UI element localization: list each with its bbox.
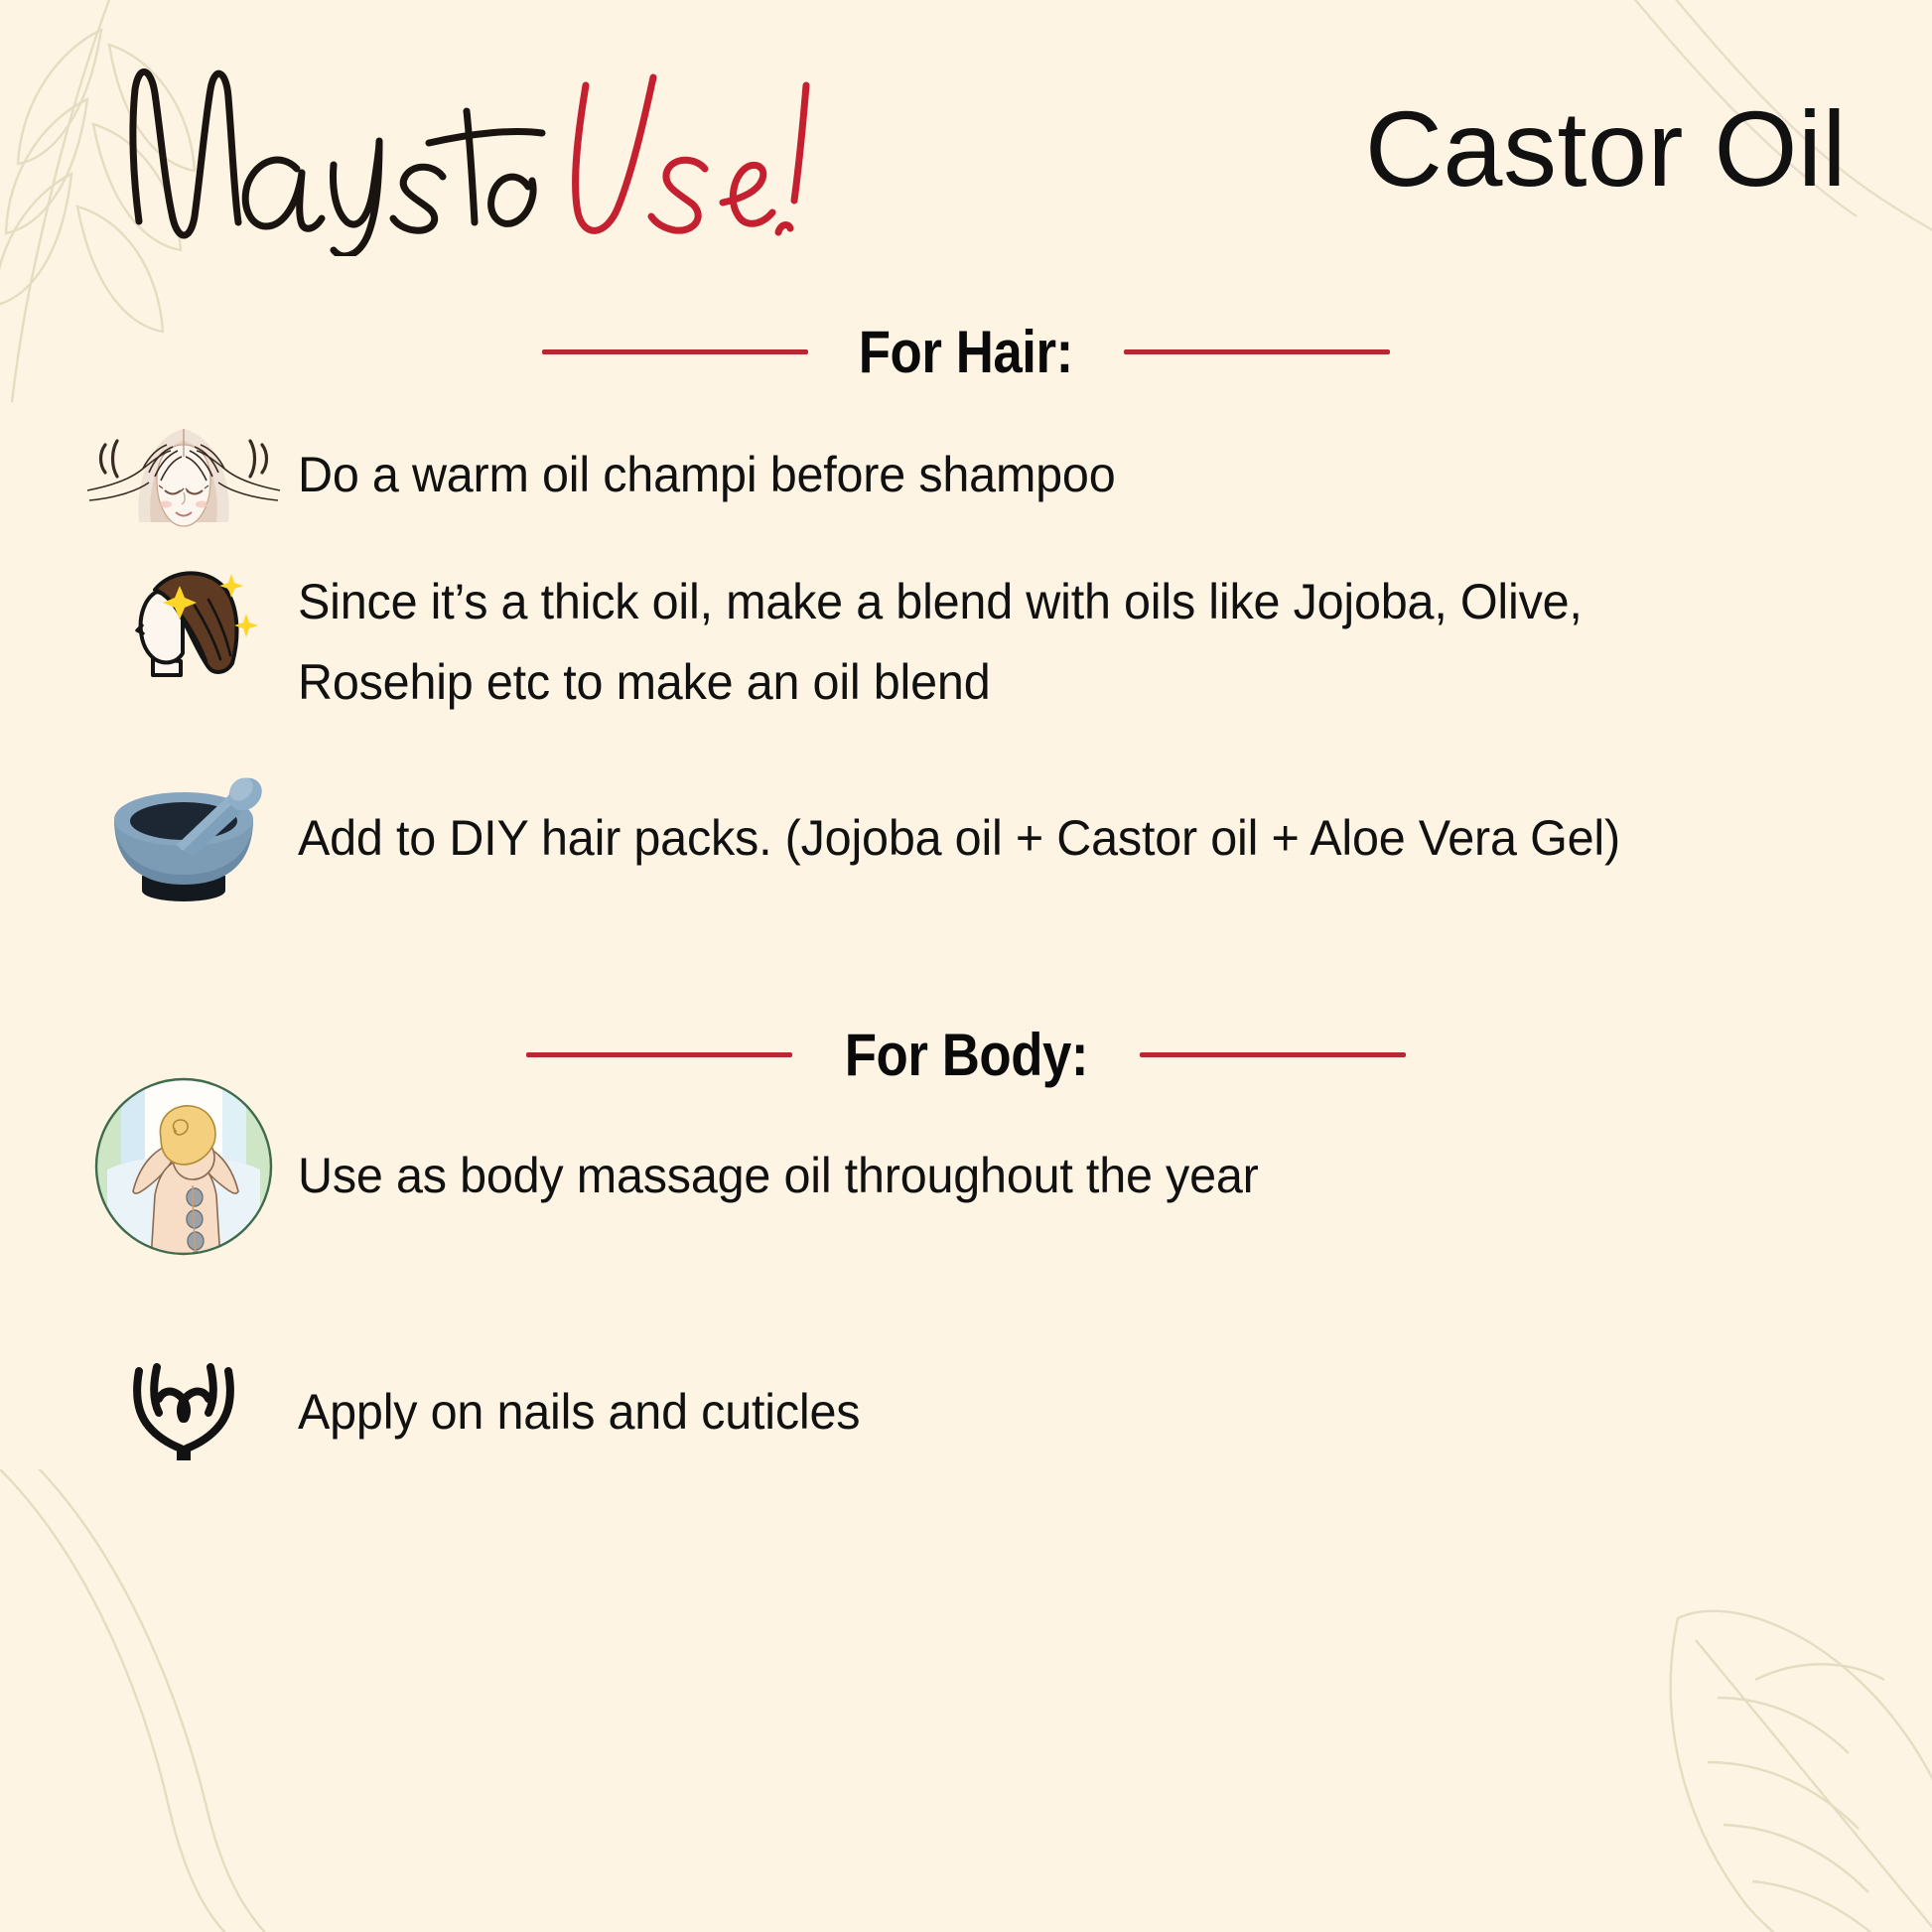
mortar-pestle-icon [69,755,298,903]
leaf-decoration-bottom-right [1638,1588,1932,1932]
list-item-text: Apply on nails and cuticles [298,1350,860,1452]
script-heading-artwork [69,38,884,256]
list-item: Do a warm oil champi before shampoo [69,395,1857,534]
section-rule-left [542,349,808,354]
script-heading [69,38,884,256]
page-title: Castor Oil [1365,95,1847,203]
head-massage-icon [69,395,298,534]
script-ways-to [133,71,542,255]
cupped-hands-icon [69,1350,298,1459]
list-item: Use as body massage oil throughout the y… [69,1072,1857,1261]
section-rule-right [1124,349,1390,354]
section-rule-right [1140,1052,1406,1057]
infographic-canvas: Castor Oil For Hair: [0,0,1932,1932]
back-massage-icon [69,1072,298,1261]
list-item: Apply on nails and cuticles [69,1350,1857,1459]
list-item: Since it’s a thick oil, make a blend wit… [69,544,1886,723]
section-rule-left [526,1052,792,1057]
list-item-text: Do a warm oil champi before shampoo [298,395,1115,515]
section-title-hair: For Hair: [859,318,1073,386]
script-use [576,77,806,232]
list-item: Add to DIY hair packs. (Jojoba oil + Cas… [69,755,1886,903]
sparkling-hair-icon [69,544,298,679]
section-header-hair: For Hair: [0,318,1932,386]
list-item-text: Add to DIY hair packs. (Jojoba oil + Cas… [298,755,1620,879]
header: Castor Oil [0,0,1932,298]
curved-line-decoration-bottom-left [0,1469,486,1932]
list-item-text: Since it’s a thick oil, make a blend wit… [298,544,1583,723]
list-item-text: Use as body massage oil throughout the y… [298,1072,1259,1216]
